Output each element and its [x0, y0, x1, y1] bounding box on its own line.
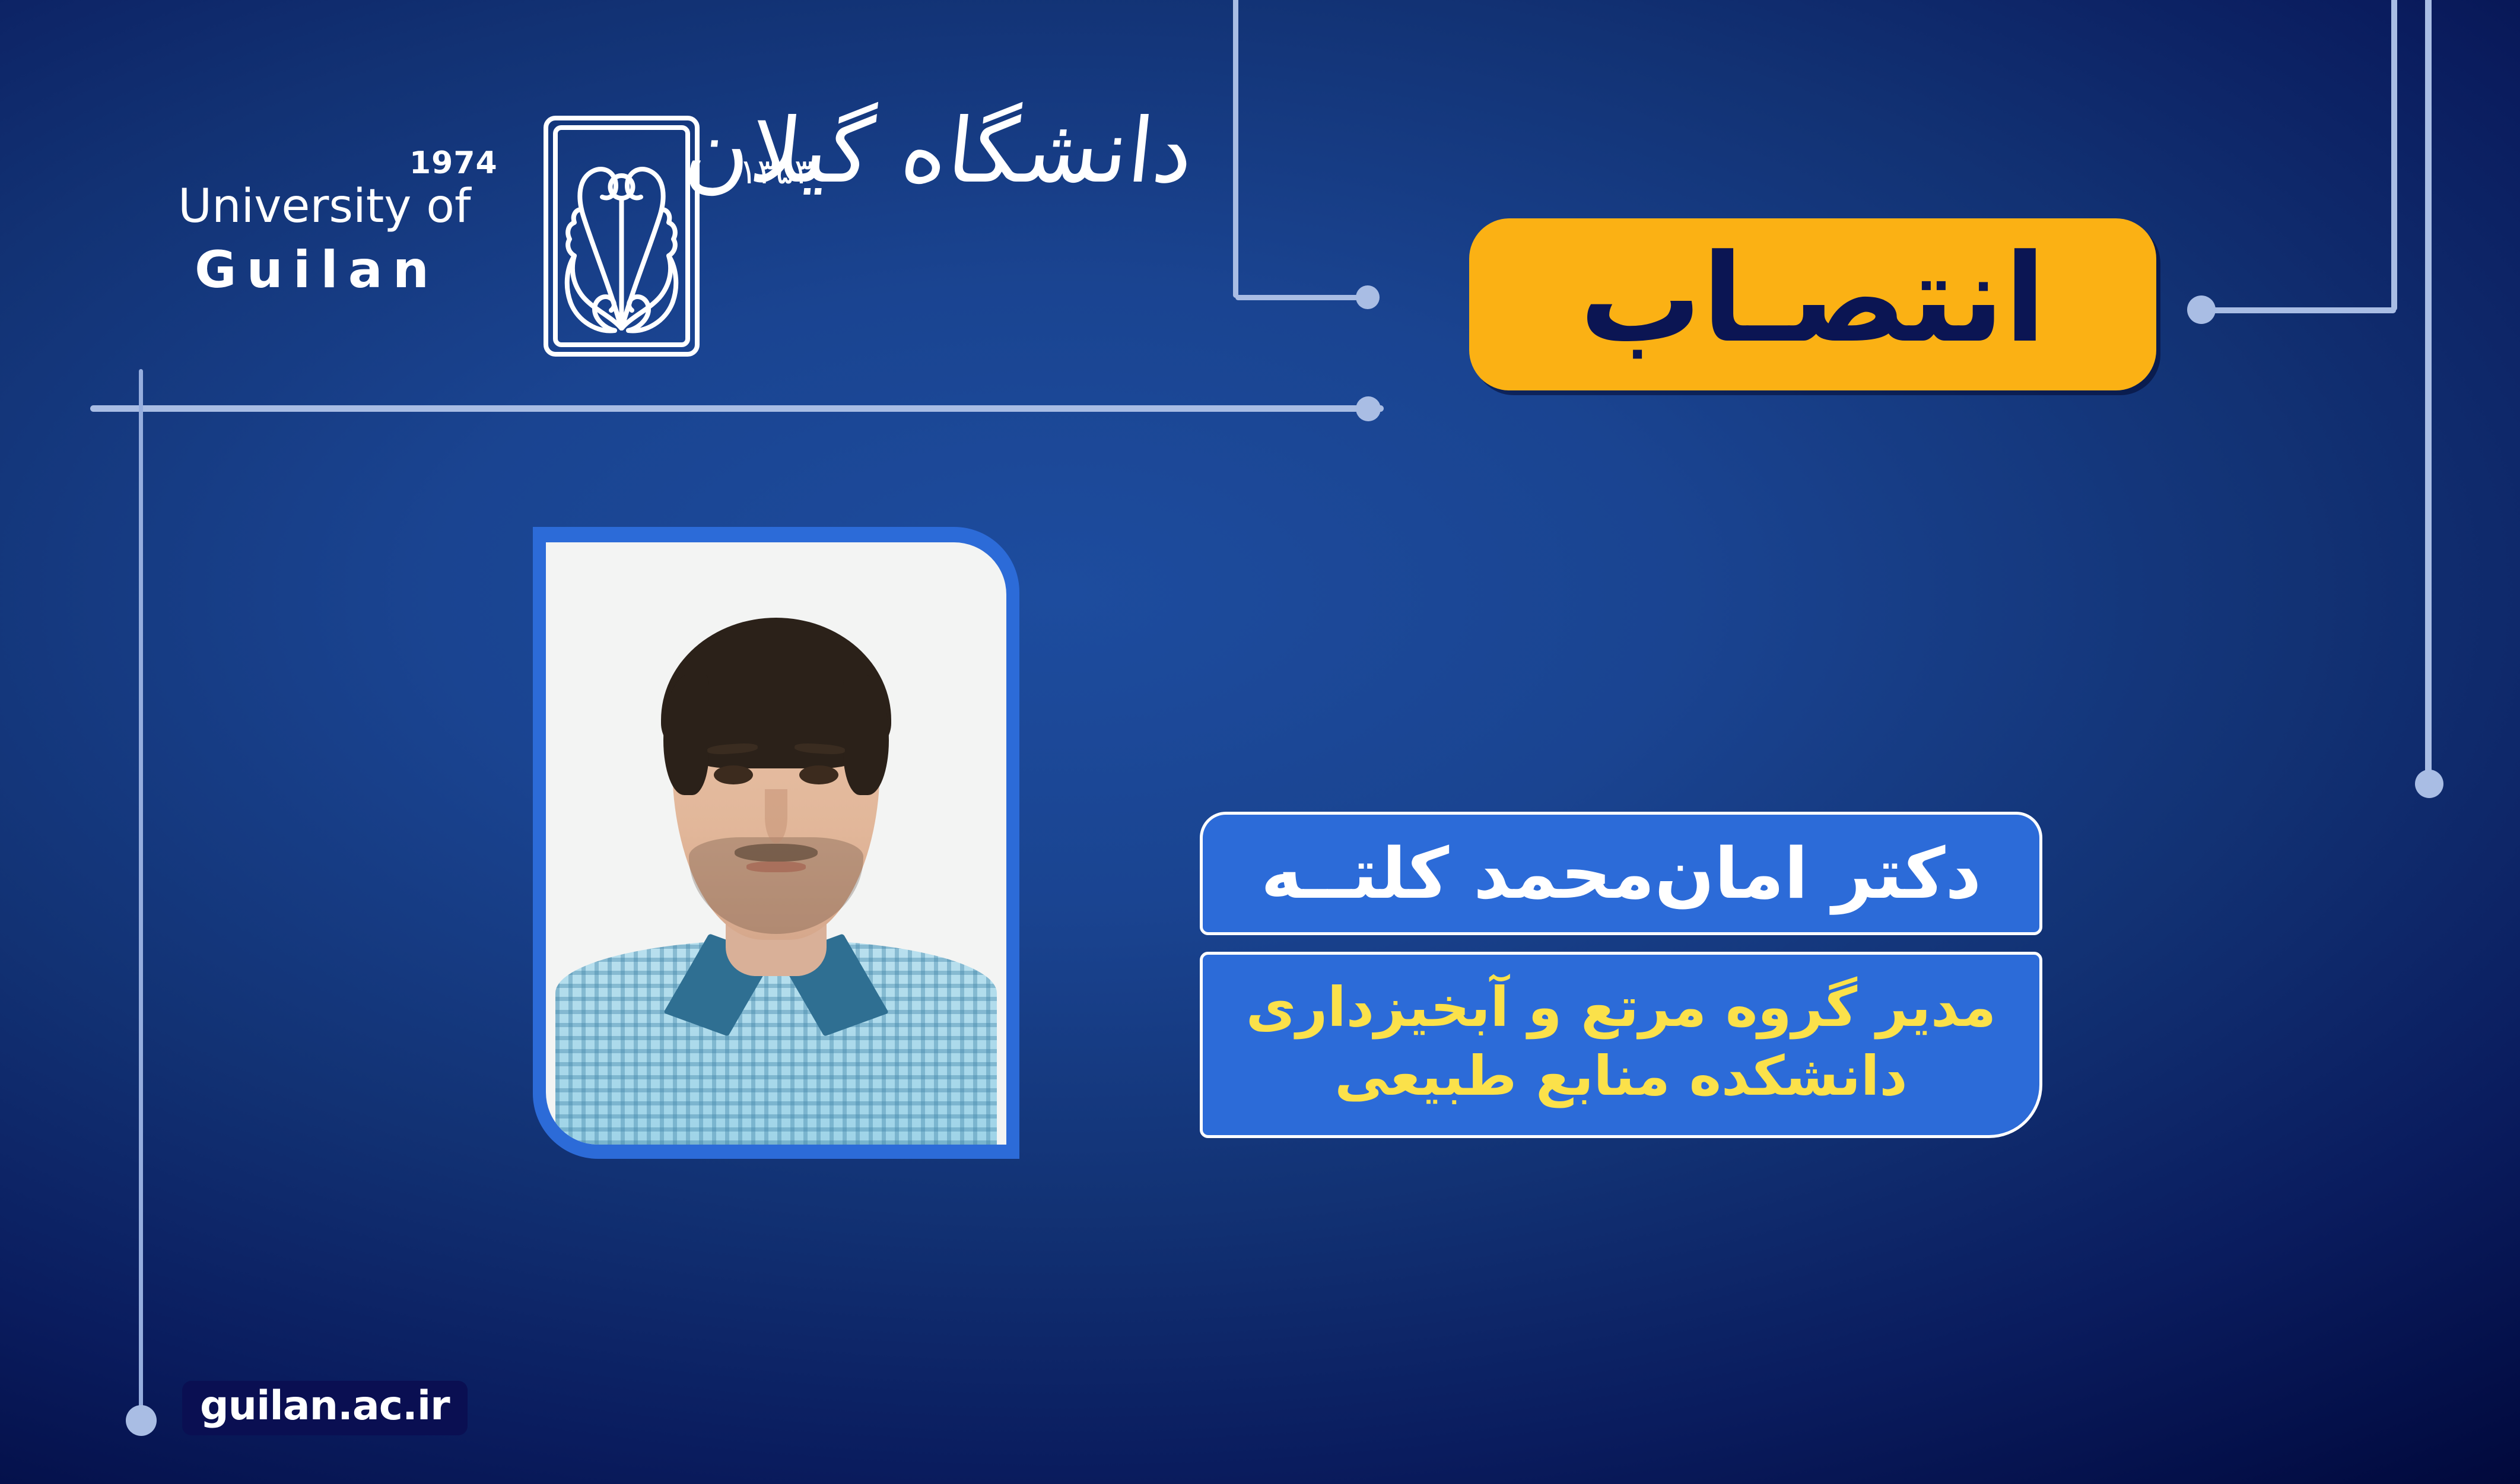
university-logo: 1974 University of Guilan	[178, 145, 1222, 371]
decor-dot-under-logo	[1356, 396, 1381, 421]
decor-dot-right-upper	[2187, 295, 2216, 324]
decor-vline-right-outer	[2425, 0, 2432, 789]
logo-year-fa: ۱۳۵۳	[739, 151, 813, 192]
decor-hline-right	[2205, 307, 2396, 313]
decor-vline-left	[139, 369, 143, 1418]
decor-vline-top-center	[1233, 0, 1238, 298]
logo-guilan-text: Guilan	[195, 240, 439, 300]
appointment-announcement-poster: 1974 University of Guilan	[0, 0, 2520, 1484]
logo-year-en: 1974	[409, 145, 498, 181]
portrait-mouth	[746, 862, 806, 872]
website-url-label: guilan.ac.ir	[200, 1386, 450, 1430]
portrait-eye-left	[714, 765, 753, 784]
appointment-badge-label: انتصـاب	[1469, 218, 2156, 390]
person-role-line-1: مدیر گروه مرتع و آبخیزداری	[1246, 973, 1996, 1042]
decor-hline-top-center	[1235, 295, 1363, 300]
portrait-eye-right	[799, 765, 838, 784]
person-role-line-2: دانشکده منابع طبیعی	[1334, 1042, 1907, 1111]
decor-hline-under-logo	[90, 405, 1384, 412]
guilan-university-butterfly-emblem-icon	[540, 110, 703, 362]
decor-dot-top-center	[1356, 285, 1380, 309]
portrait-photo	[546, 542, 1006, 1145]
decor-dot-right-lower	[2415, 770, 2443, 798]
person-role-plate: مدیر گروه مرتع و آبخیزداری دانشکده منابع…	[1200, 952, 2042, 1138]
appointment-badge: انتصـاب	[1469, 218, 2156, 390]
website-url-badge[interactable]: guilan.ac.ir	[182, 1381, 468, 1435]
logo-persian-lockup: دانشگاه گیلان ۱۳۵۳	[718, 95, 1193, 344]
person-name-plate: دکتر امان‌محمد کلتــه	[1200, 812, 2042, 935]
portrait-frame	[533, 527, 1019, 1159]
decor-vline-right-inner	[2391, 0, 2397, 311]
decor-dot-bottom-left	[126, 1405, 157, 1436]
person-name: دکتر امان‌محمد کلتــه	[1261, 832, 1981, 914]
portrait-mustache	[735, 844, 818, 862]
logo-university-of-text: University of	[178, 180, 471, 233]
